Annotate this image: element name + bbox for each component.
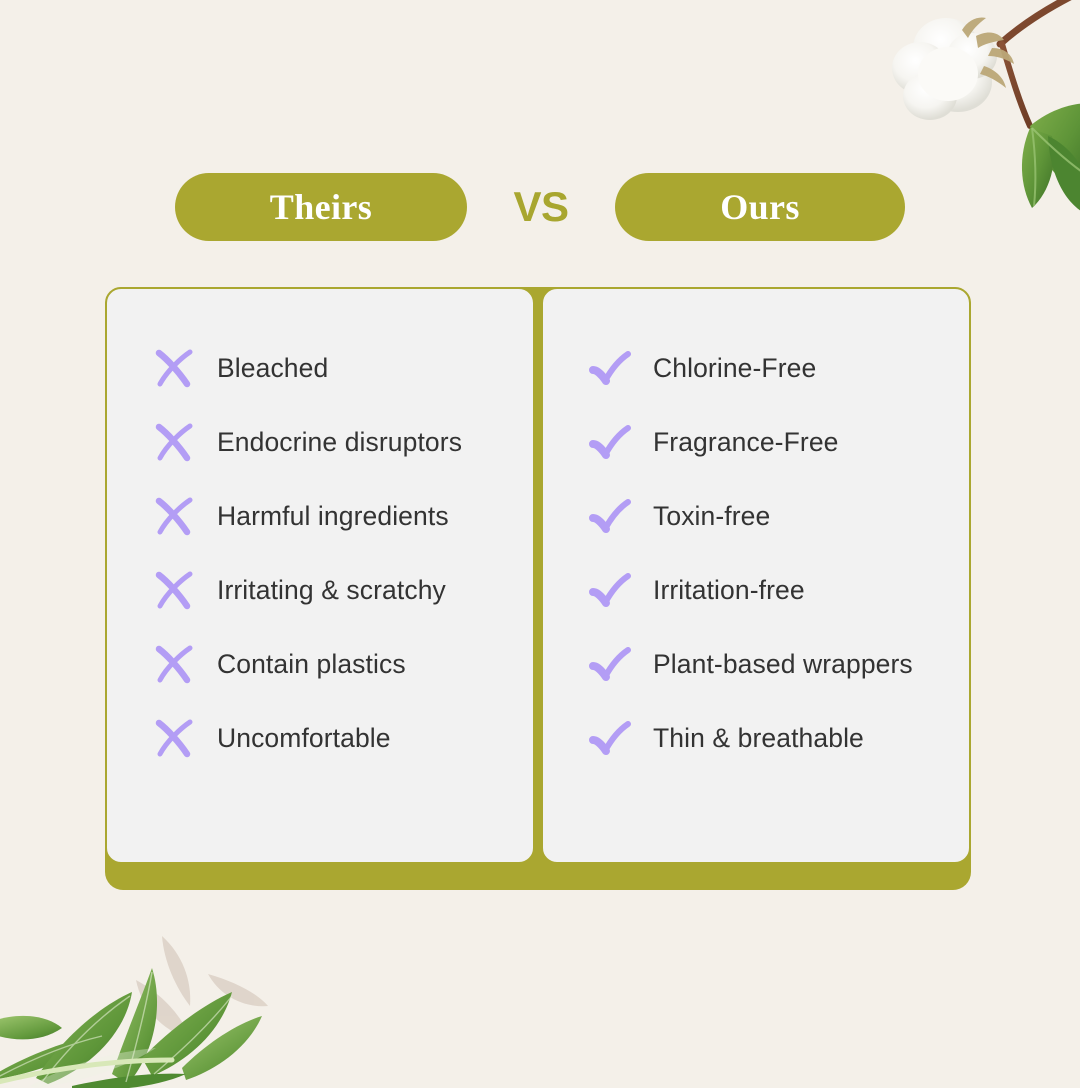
list-item-label: Plant-based wrappers xyxy=(653,649,913,680)
check-mark-icon xyxy=(587,493,633,539)
list-item: Toxin-free xyxy=(543,479,969,553)
vs-label: VS xyxy=(467,183,615,231)
theirs-card: BleachedEndocrine disruptorsHarmful ingr… xyxy=(105,287,535,864)
list-item-label: Contain plastics xyxy=(217,649,406,680)
x-mark-icon xyxy=(151,567,197,613)
list-item: Plant-based wrappers xyxy=(543,627,969,701)
list-item: Harmful ingredients xyxy=(107,479,533,553)
check-mark-icon xyxy=(587,715,633,761)
x-mark-icon xyxy=(151,493,197,539)
list-item-label: Irritation-free xyxy=(653,575,805,606)
list-item: Uncomfortable xyxy=(107,701,533,775)
list-item: Bleached xyxy=(107,331,533,405)
theirs-pill-label: Theirs xyxy=(270,186,372,228)
x-mark-icon xyxy=(151,641,197,687)
list-item-label: Harmful ingredients xyxy=(217,501,449,532)
list-item-label: Bleached xyxy=(217,353,328,384)
list-item-label: Toxin-free xyxy=(653,501,770,532)
check-mark-icon xyxy=(587,567,633,613)
x-mark-icon xyxy=(151,345,197,391)
check-mark-icon xyxy=(587,641,633,687)
list-item: Endocrine disruptors xyxy=(107,405,533,479)
list-item: Fragrance-Free xyxy=(543,405,969,479)
ours-pill-label: Ours xyxy=(720,186,800,228)
list-item-label: Irritating & scratchy xyxy=(217,575,446,606)
list-item: Contain plastics xyxy=(107,627,533,701)
comparison-header: Theirs VS Ours xyxy=(0,172,1080,242)
check-mark-icon xyxy=(587,345,633,391)
list-item-label: Uncomfortable xyxy=(217,723,391,754)
list-item: Chlorine-Free xyxy=(543,331,969,405)
list-item: Irritation-free xyxy=(543,553,969,627)
check-mark-icon xyxy=(587,419,633,465)
ours-pill: Ours xyxy=(615,173,905,241)
list-item-label: Chlorine-Free xyxy=(653,353,816,384)
list-item: Thin & breathable xyxy=(543,701,969,775)
list-item-label: Fragrance-Free xyxy=(653,427,839,458)
x-mark-icon xyxy=(151,419,197,465)
theirs-pill: Theirs xyxy=(175,173,467,241)
ours-item-list: Chlorine-FreeFragrance-FreeToxin-freeIrr… xyxy=(543,331,969,775)
list-item-label: Thin & breathable xyxy=(653,723,864,754)
ours-card: Chlorine-FreeFragrance-FreeToxin-freeIrr… xyxy=(541,287,971,864)
comparison-cards: BleachedEndocrine disruptorsHarmful ingr… xyxy=(105,287,971,864)
comparison-panel: BleachedEndocrine disruptorsHarmful ingr… xyxy=(105,287,971,890)
x-mark-icon xyxy=(151,715,197,761)
theirs-item-list: BleachedEndocrine disruptorsHarmful ingr… xyxy=(107,331,533,775)
bamboo-leaves-decoration xyxy=(0,908,316,1088)
list-item: Irritating & scratchy xyxy=(107,553,533,627)
list-item-label: Endocrine disruptors xyxy=(217,427,462,458)
